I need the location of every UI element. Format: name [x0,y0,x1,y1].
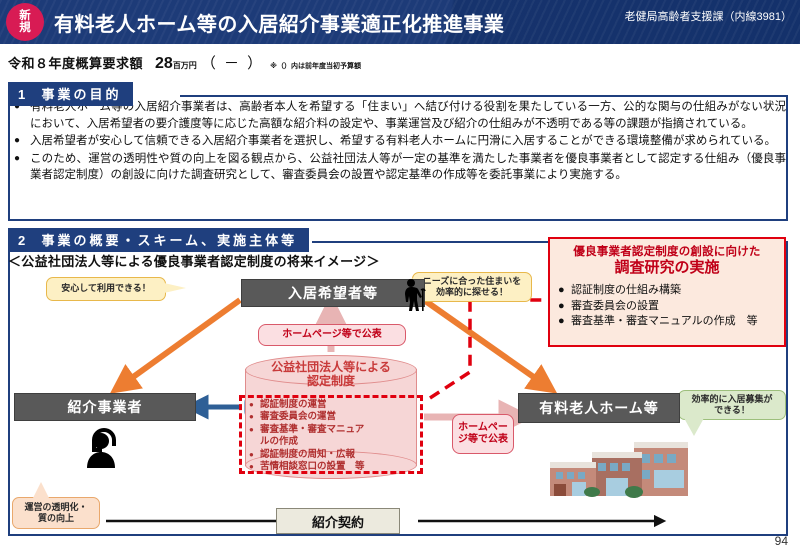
label-publish-center: ホームページ等で公表 [258,324,406,346]
label-contract: 紹介契約 [276,508,400,534]
cylinder-item-text: 苦情相談窓口の設置 等 [260,461,365,473]
bullet-icon: ● [249,424,260,449]
bubble-safe-use: 安心して利用できる！ [46,277,166,301]
research-panel-item-text: 審査基準・審査マニュアルの作成 等 [571,314,758,330]
budget-amount: 28 [155,55,173,73]
research-panel-item: ● 審査委員会の設置 [558,299,784,315]
node-agency-label: 紹介事業者 [68,397,143,417]
bullet-icon: ● [249,449,260,461]
bubble-efficient-recruit-tail [684,418,704,436]
bubble-needs-match-text: ニーズに合った住まいを 効率的に探せる！ [423,276,522,299]
bullet-icon: ● [558,283,571,299]
cylinder-item: ● 苦情相談窓口の設置 等 [249,461,425,473]
section-1-item: ● このため、運営の透明性や質の向上を図る観点から、公益社団法人等が一定の基準を… [14,151,786,184]
section-2-subtitle: ＜公益社団法人等による優良事業者認定制度の将来イメージ＞ [8,251,380,270]
section-1-item-text: 入居希望者が安心して信頼できる入居紹介事業者を選択し、希望する有料老人ホームに円… [30,133,786,150]
cylinder-item-text: 認証制度の運営 [260,399,327,411]
cylinder-item-list: ● 認証制度の運営 ● 審査委員会の運営 ● 審査基準・審査マニュア ルの作成 … [249,399,425,473]
node-facility-label: 有料老人ホーム等 [539,398,659,418]
research-panel-heading-large: 調査研究の実施 [550,259,784,277]
department-label: 老健局高齢者支援課（内線3981） [625,8,792,24]
bullet-icon: ● [249,411,260,423]
section-1-title: 事業の目的 [41,87,121,102]
elderly-person-icon [398,278,428,312]
node-agency: 紹介事業者 [14,393,196,421]
bullet-icon: ● [14,151,30,184]
cylinder-item-text: 審査委員会の運営 [260,411,336,423]
buildings-icon [548,440,698,502]
section-1-item: ● 入居希望者が安心して信頼できる入居紹介事業者を選択し、希望する有料老人ホーム… [14,133,786,150]
research-panel-item-text: 審査委員会の設置 [571,299,659,315]
operator-headset-icon [84,424,126,468]
cylinder-item: ● 認証制度の周知・広報 [249,449,425,461]
bullet-icon: ● [558,299,571,315]
budget-previous-year: （ － ） [201,52,264,73]
bubble-safe-use-text: 安心して利用できる！ [61,283,151,295]
page-title: 有料老人ホーム等の入居紹介事業適正化推進事業 [54,8,504,37]
new-badge-line1: 新 [19,10,31,22]
section-1-item-text: このため、運営の透明性や質の向上を図る観点から、公益社団法人等が一定の基準を満た… [30,151,786,184]
page-number: 94 [775,534,788,548]
research-panel-item: ● 認証制度の仕組み構築 [558,283,784,299]
budget-unit: 百万円 [173,60,197,71]
research-panel-heading-small: 優良事業者認定制度の創設に向けた [550,243,784,259]
node-facility: 有料老人ホーム等 [518,393,680,423]
budget-line: 令和８年度概算要求額 28 百万円 （ － ） ※（）内は前年度当初予算額 [8,52,361,73]
cylinder-item: ● 審査基準・審査マニュア ルの作成 [249,424,425,449]
section-1-item-text: 有料老人ホーム等の入居紹介事業者は、高齢者本人を希望する「住まい」へ結び付ける役… [30,99,786,132]
page-header: 新 規 有料老人ホーム等の入居紹介事業適正化推進事業 老健局高齢者支援課（内線3… [0,0,800,44]
section-2-tab: 2 事業の概要・スキーム、実施主体等 [8,228,309,252]
budget-label: 令和８年度概算要求額 [8,53,143,72]
bullet-icon: ● [14,133,30,150]
bullet-icon: ● [558,314,571,330]
section-1-number: 1 [18,87,28,102]
new-badge-line2: 規 [19,22,31,34]
label-contract-text: 紹介契約 [312,512,364,531]
new-badge: 新 規 [6,3,44,41]
research-panel-item-text: 認証制度の仕組み構築 [571,283,681,299]
bubble-transparency-tail [32,482,50,500]
bullet-icon: ● [249,399,260,411]
slide-page: 新 規 有料老人ホーム等の入居紹介事業適正化推進事業 老健局高齢者支援課（内線3… [0,0,800,556]
section-1-tab: 1 事業の目的 [8,82,133,106]
label-publish-center-text: ホームページ等で公表 [282,329,382,341]
bullet-icon: ● [249,461,260,473]
cylinder-title: 公益社団法人等による 認定制度 [245,360,417,388]
research-panel-item: ● 審査基準・審査マニュアルの作成 等 [558,314,784,330]
cylinder-item: ● 認証制度の運営 [249,399,425,411]
certification-cylinder: 公益社団法人等による 認定制度 ● 認証制度の運営 ● 審査委員会の運営 ● 審… [245,355,417,480]
bubble-transparency-text: 運営の透明化・ 質の向上 [24,502,87,525]
section-2-number: 2 [18,233,28,248]
research-panel-list: ● 認証制度の仕組み構築 ● 審査委員会の設置 ● 審査基準・審査マニュアルの作… [550,283,784,330]
label-publish-right-text: ホームペー ジ等で公表 [458,422,508,446]
bubble-needs-match: ニーズに合った住まいを 効率的に探せる！ [412,272,532,302]
cylinder-item-text: 審査基準・審査マニュア ルの作成 [260,424,364,449]
bubble-transparency: 運営の透明化・ 質の向上 [12,497,100,529]
bubble-safe-use-tail [164,283,186,293]
research-panel: 優良事業者認定制度の創設に向けた 調査研究の実施 ● 認証制度の仕組み構築 ● … [548,237,786,347]
cylinder-item-text: 認証制度の周知・広報 [260,449,355,461]
section-2-title: 事業の概要・スキーム、実施主体等 [41,233,297,248]
bubble-efficient-recruit: 効率的に入居募集が できる！ [678,390,786,420]
node-applicants-label: 入居希望者等 [288,283,378,303]
bubble-efficient-recruit-text: 効率的に入居募集が できる！ [691,394,772,417]
section-1-body: ● 有料老人ホーム等の入居紹介事業者は、高齢者本人を希望する「住まい」へ結び付け… [14,99,786,185]
label-publish-right: ホームペー ジ等で公表 [452,414,514,454]
cylinder-item: ● 審査委員会の運営 [249,411,425,423]
budget-note: ※（）内は前年度当初予算額 [270,61,361,71]
